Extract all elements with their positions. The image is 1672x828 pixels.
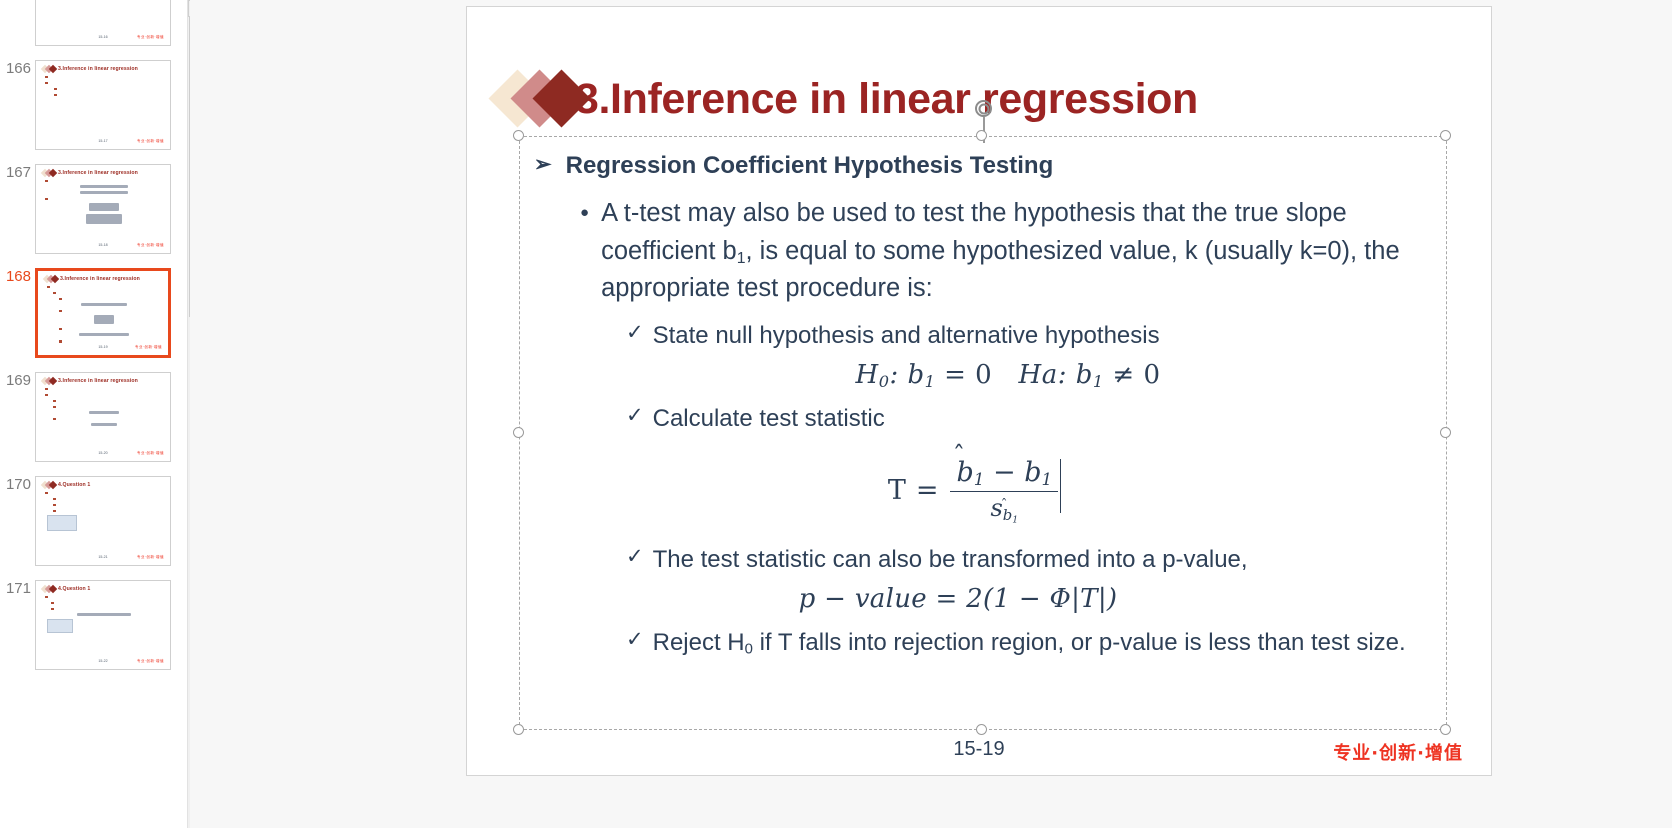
check-bullet-icon: ✓ — [626, 626, 644, 654]
h0-rest: : b — [889, 360, 924, 390]
slide-number: 168 — [0, 268, 35, 284]
slide-number: 171 — [0, 580, 35, 596]
check-bullet-row-3: ✓ The test statistic can also be transfo… — [626, 543, 1416, 578]
slide-thumbnail-item[interactable]: 170 4.Question 1 15-2 — [0, 468, 190, 572]
check4-pre: Reject H — [653, 629, 745, 656]
mini-body — [36, 75, 170, 96]
b-index-subscript: 1 — [1012, 514, 1018, 525]
body-content[interactable]: ➢ Regression Coefficient Hypothesis Test… — [520, 137, 1446, 729]
h0-equation: = 0 — [944, 360, 992, 390]
mini-footer-cn: 专业·创新·增值 — [137, 35, 164, 40]
ha-b-subscript: 1 — [1093, 372, 1104, 391]
mini-bullet-icon — [53, 498, 56, 501]
slide-thumbnail-preview[interactable]: 3.Inference in linear regression 15-20 专… — [35, 372, 171, 462]
page-title: 3.Inference in linear regression — [575, 75, 1198, 124]
mini-bullet-icon — [45, 82, 48, 85]
t-symbol: T — [888, 475, 906, 506]
mini-bullet-icon — [45, 198, 48, 201]
mini-footer-cn: 专业·创新·增值 — [135, 345, 162, 350]
resize-handle-bottom-left[interactable] — [513, 724, 524, 735]
slide-number: 166 — [0, 60, 35, 76]
slide-number: 169 — [0, 372, 35, 388]
resize-handle-middle-left[interactable] — [513, 427, 524, 438]
pvalue-formula: p − value = 2(1 − Φ|T|) — [474, 584, 1442, 614]
check4-post: if T falls into rejection region, or p-v… — [753, 629, 1406, 656]
b1-symbol: b — [1024, 457, 1041, 488]
mini-body — [36, 595, 170, 633]
mini-footer-cn: 专业·创新·增值 — [137, 555, 164, 560]
mini-title-row: 3.Inference in linear regression — [44, 276, 168, 282]
mini-body — [36, 179, 170, 224]
section-heading: Regression Coefficient Hypothesis Testin… — [566, 151, 1054, 181]
minus-symbol: − — [993, 457, 1016, 488]
check-bullet-icon: ✓ — [626, 402, 644, 430]
mini-bullet-icon — [59, 310, 62, 313]
h0-subscript: 0 — [745, 642, 753, 658]
mini-bullet-icon — [53, 406, 56, 409]
resize-handle-bottom-center[interactable] — [976, 724, 987, 735]
main-bullet-row: ● A t-test may also be used to test the … — [580, 195, 1408, 308]
slide-thumbnail-preview[interactable]: 3.Inference in linear regression 15-19 — [35, 268, 171, 358]
mini-footer-cn: 专业·创新·增值 — [137, 659, 164, 664]
slide-canvas[interactable]: 3.Inference in linear regression ➢ Regre… — [466, 6, 1492, 776]
slide-thumbnail-item[interactable]: 167 3.Inference in linear regression — [0, 156, 190, 260]
fraction-numerator: ̂b1 − b1 — [950, 457, 1058, 492]
mini-slide-title: 3.Inference in linear regression — [58, 170, 138, 176]
equals-symbol: = — [916, 475, 939, 506]
resize-handle-bottom-right[interactable] — [1440, 724, 1451, 735]
mini-bullet-icon — [59, 340, 62, 343]
mini-footer-number: 15-20 — [98, 451, 107, 455]
mini-bullet-icon — [51, 602, 54, 605]
mini-bullet-icon — [53, 504, 56, 507]
rotation-handle[interactable] — [975, 100, 992, 117]
slide-number: 170 — [0, 476, 35, 492]
thumbnail-scrollbar[interactable] — [187, 0, 190, 828]
slide-thumbnail-item[interactable]: 171 4.Question 1 15-2 — [0, 572, 190, 676]
mini-bullet-icon — [51, 608, 54, 611]
hypothesis-formula: H0: b1 = 0 Ha: b1 ≠ 0 — [574, 360, 1442, 391]
mini-body — [38, 285, 168, 343]
check-bullet-row-1: ✓ State null hypothesis and alternative … — [626, 319, 1416, 354]
body-text-placeholder[interactable]: ➢ Regression Coefficient Hypothesis Test… — [519, 136, 1447, 730]
mini-bullet-icon — [45, 180, 48, 183]
mini-bullet-icon — [53, 510, 56, 513]
slide-footer-tagline: 专业·创新·增值 — [1333, 739, 1463, 765]
check-bullet-icon: ✓ — [626, 543, 644, 571]
mini-bullet-icon — [45, 394, 48, 397]
b-symbol: b — [956, 457, 973, 488]
check-text-2: Calculate test statistic — [653, 402, 885, 437]
text-cursor — [1060, 459, 1062, 513]
slide-number: 167 — [0, 164, 35, 180]
h0-b-subscript: 1 — [925, 372, 936, 391]
mini-bullet-icon — [59, 328, 62, 331]
mini-footer-cn: 专业·创新·增值 — [137, 139, 164, 144]
mini-bullet-icon — [47, 286, 50, 289]
resize-handle-top-center[interactable] — [976, 130, 987, 141]
b1hat-subscript: 1 — [974, 469, 985, 489]
resize-handle-top-right[interactable] — [1440, 130, 1451, 141]
mini-body — [36, 491, 170, 531]
check-text-1: State null hypothesis and alternative hy… — [653, 319, 1160, 354]
scroll-up-button[interactable] — [188, 0, 190, 17]
slide-editor-area[interactable]: 3.Inference in linear regression ➢ Regre… — [190, 0, 1672, 828]
mini-footer-cn: 专业·创新·增值 — [137, 243, 164, 248]
check-text-4: Reject H0 if T falls into rejection regi… — [653, 626, 1406, 661]
mini-slide-title: 3.Inference in linear regression — [58, 66, 138, 72]
mini-bullet-icon — [45, 76, 48, 79]
mini-footer-number: 15-18 — [98, 243, 107, 247]
mini-title-row: 3.Inference in linear regression — [42, 378, 170, 384]
mini-bullet-icon — [45, 388, 48, 391]
slide-thumbnail-item[interactable]: 165 3.Inference in linear regression — [0, 0, 190, 52]
mini-title-row: 3.Inference in linear regression — [42, 170, 170, 176]
mini-footer-number: 15-16 — [98, 35, 107, 39]
mini-bullet-icon — [53, 418, 56, 421]
t-fraction: ̂b1 − b1 ŝb1 — [950, 457, 1058, 525]
mini-title-row: 4.Question 1 — [42, 482, 170, 488]
ha-rest: : b — [1058, 360, 1093, 390]
slide-thumbnail-preview[interactable]: 3.Inference in linear regression 15-16 专… — [35, 0, 171, 46]
s-symbol: s — [990, 494, 1002, 522]
powerpoint-window: 165 3.Inference in linear regression — [0, 0, 1672, 828]
b-symbol: b — [1003, 506, 1013, 524]
resize-handle-top-left[interactable] — [513, 130, 524, 141]
slide-thumbnail-preview[interactable]: 3.Inference in linear regression 15-18 专… — [35, 164, 171, 254]
mini-bullet-icon — [53, 400, 56, 403]
mini-footer-number: 15-22 — [98, 659, 107, 663]
mini-footer-number: 15-21 — [98, 555, 107, 559]
check-bullet-row-2: ✓ Calculate test statistic — [626, 402, 1416, 437]
mini-bullet-icon — [45, 596, 48, 599]
title-diamond-decoration — [497, 70, 577, 128]
b1-subscript: 1 — [1042, 469, 1053, 489]
mini-bullet-icon — [59, 298, 62, 301]
b1-hat-group: ̂b — [956, 457, 973, 488]
mini-bullet-icon — [54, 94, 57, 97]
check-bullet-icon: ✓ — [626, 319, 644, 347]
dot-bullet-icon: ● — [580, 195, 589, 231]
mini-slide-title: 3.Inference in linear regression — [60, 276, 140, 282]
mini-footer-number: 15-19 — [98, 345, 107, 349]
ha-equation: ≠ 0 — [1112, 360, 1160, 390]
mini-bullet-icon — [53, 292, 56, 295]
b-hat-group: ̂b — [1003, 506, 1013, 524]
slide-thumbnail-item[interactable]: 169 3.Inference in linear regression — [0, 364, 190, 468]
h0-subscript: 0 — [879, 372, 890, 391]
mini-body — [36, 387, 170, 426]
heading-bullet-row: ➢ Regression Coefficient Hypothesis Test… — [534, 151, 1442, 181]
resize-handle-middle-right[interactable] — [1440, 427, 1451, 438]
slide-thumbnail-preview[interactable]: 3.Inference in linear regression 15-17 专… — [35, 60, 171, 150]
t-statistic-formula[interactable]: T = ̂b1 − b1 ŝb1 — [504, 457, 1442, 525]
mini-footer-cn: 专业·创新·增值 — [137, 451, 164, 456]
slide-thumbnail-item[interactable]: 166 3.Inference in linear regression — [0, 52, 190, 156]
ha-symbol: Ha — [1019, 360, 1058, 390]
main-bullet-text: A t-test may also be used to test the hy… — [601, 195, 1408, 308]
mini-bullet-icon — [54, 88, 57, 91]
slide-thumbnail-pane[interactable]: 165 3.Inference in linear regression — [0, 0, 190, 828]
mini-title-row: 3.Inference in linear regression — [42, 66, 170, 72]
slide-thumbnail-preview[interactable]: 4.Question 1 15-21 专业·创新·增值 — [35, 476, 171, 566]
h0-symbol: H — [856, 360, 879, 390]
scrollbar-thumb[interactable] — [189, 17, 190, 317]
s-subscript-group: ̂b1 — [1003, 506, 1018, 524]
mini-bullet-icon — [45, 492, 48, 495]
mini-footer-number: 15-17 — [98, 139, 107, 143]
slide-thumbnail-preview[interactable]: 4.Question 1 15-22 专业·创新·增值 — [35, 580, 171, 670]
check-text-3: The test statistic can also be transform… — [653, 543, 1248, 578]
arrow-bullet-icon: ➢ — [534, 151, 552, 178]
slide-thumbnail-item-selected[interactable]: 168 3.Inference in linear regression — [0, 260, 190, 364]
fraction-denominator: ŝb1 — [984, 492, 1024, 525]
check-bullet-row-4: ✓ Reject H0 if T falls into rejection re… — [626, 626, 1416, 661]
mini-slide-title: 4.Question 1 — [58, 586, 90, 592]
slide-thumbnail-list: 165 3.Inference in linear regression — [0, 0, 190, 676]
mini-title-row: 4.Question 1 — [42, 586, 170, 592]
slide-title-group[interactable]: 3.Inference in linear regression — [497, 70, 1198, 128]
mini-slide-title: 3.Inference in linear regression — [58, 378, 138, 384]
mini-slide-title: 4.Question 1 — [58, 482, 90, 488]
